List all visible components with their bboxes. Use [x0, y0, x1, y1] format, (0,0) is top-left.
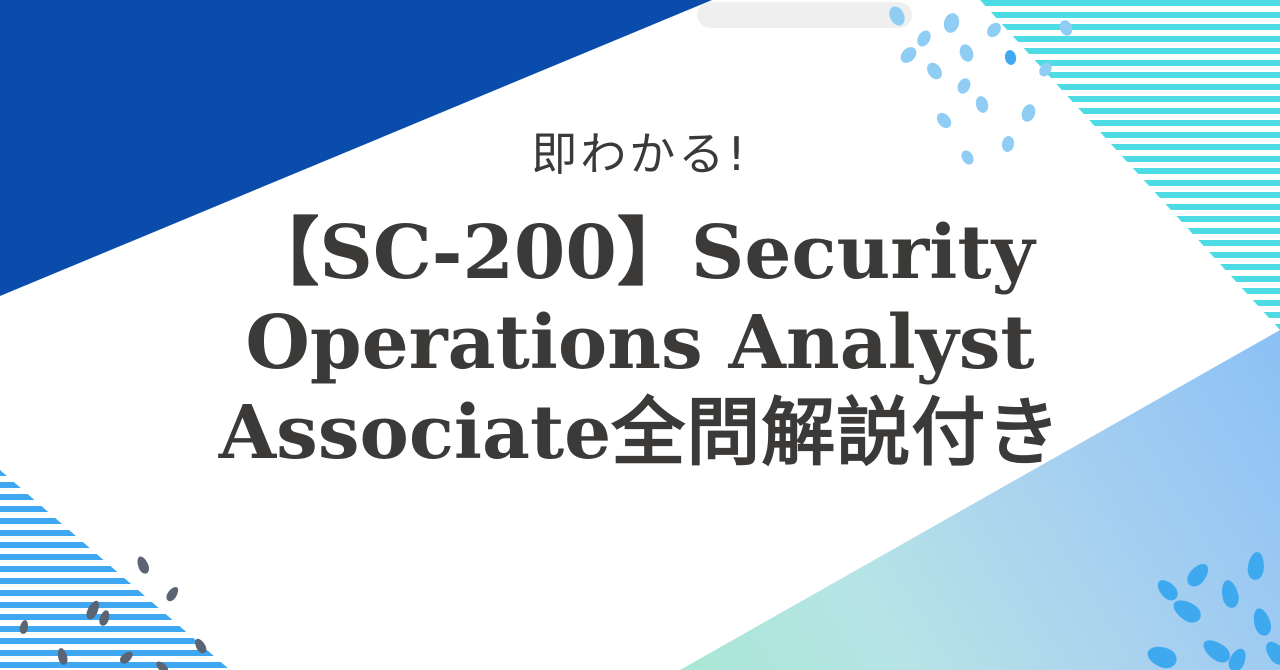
banner-subtitle: 即わかる! [531, 126, 748, 184]
title-line-3-latin: Associate [219, 390, 611, 476]
title-line-3: Associate全問解説付き [219, 388, 1061, 478]
title-line-3-japanese: 全問解説付き [611, 390, 1061, 476]
banner-canvas: 即わかる! 【SC-200】Security Operations Analys… [0, 0, 1280, 670]
banner-text-block: 即わかる! 【SC-200】Security Operations Analys… [0, 0, 1280, 670]
title-line-2: Operations Analyst [219, 298, 1061, 388]
banner-title: 【SC-200】Security Operations Analyst Asso… [219, 208, 1061, 479]
title-line-1: 【SC-200】Security [219, 208, 1061, 298]
